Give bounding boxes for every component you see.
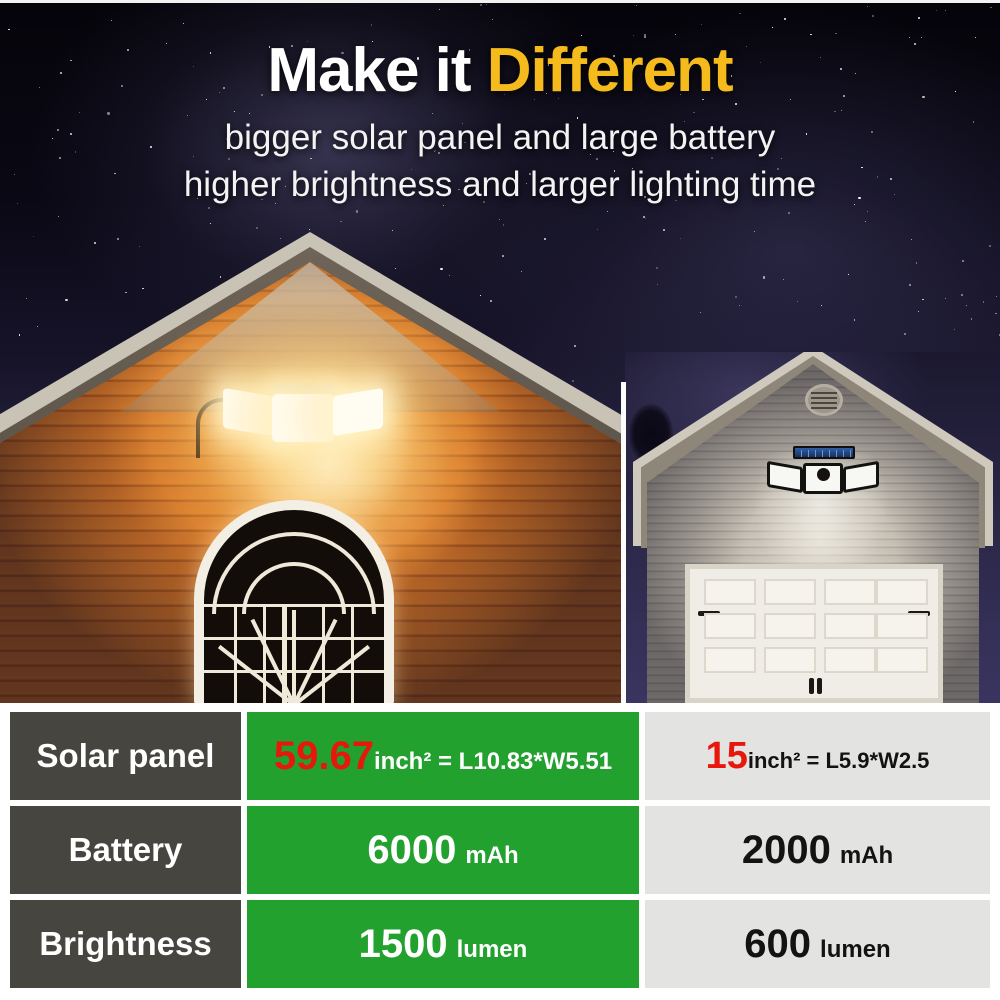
table-row: Brightness 1500 lumen 600 lumen — [10, 900, 990, 988]
solar-flood-light-fixture-right — [771, 446, 875, 494]
window-center-mullion — [282, 604, 287, 703]
photo-divider — [621, 382, 626, 703]
garage-door — [685, 564, 943, 703]
arched-window-left — [194, 500, 394, 703]
motion-sensor-icon — [817, 468, 830, 481]
solar-panel-right — [793, 446, 855, 459]
light-head-center — [272, 394, 334, 442]
theirs-value-battery: 2000 — [742, 830, 831, 870]
flood-light-fixture-left — [225, 378, 383, 448]
light-head-right-wing — [843, 461, 879, 493]
title-plain-part: Make it — [267, 36, 486, 105]
table-row: Battery 6000 mAh 2000 mAh — [10, 806, 990, 894]
garage-handle-icon — [809, 678, 823, 694]
theirs-value-brightness: 600 — [744, 924, 811, 964]
theirs-unit-battery: mAh — [840, 842, 893, 870]
comparison-table: Solar panel 59.67inch² = L10.83*W5.51 15… — [10, 712, 990, 988]
ours-cell-brightness: 1500 lumen — [247, 900, 639, 988]
theirs-cell-solar-panel: 15inch² = L5.9*W2.5 — [645, 712, 990, 800]
ours-value-brightness: 1500 — [359, 924, 448, 964]
subtitle-line-1: bigger solar panel and large battery — [0, 116, 1000, 161]
gable-vent-icon — [805, 384, 843, 416]
ours-value-solar-panel: 59.67 — [274, 736, 374, 776]
page-title: Make it Different — [0, 40, 1000, 102]
title-accent-part: Different — [487, 36, 733, 105]
light-head-left-wing — [767, 461, 803, 493]
table-row: Solar panel 59.67inch² = L10.83*W5.51 15… — [10, 712, 990, 800]
photo-right-dim-garage — [625, 352, 1000, 703]
ours-unit-brightness: lumen — [457, 936, 528, 964]
row-label-battery: Battery — [10, 806, 241, 894]
ours-unit-battery: mAh — [465, 842, 518, 870]
ours-value-battery: 6000 — [367, 830, 456, 870]
row-label-brightness: Brightness — [10, 900, 241, 988]
row-label-solar-panel: Solar panel — [10, 712, 241, 800]
theirs-unit-solar-panel: inch² = L5.9*W2.5 — [748, 748, 930, 774]
light-head-left-wing — [223, 388, 273, 436]
ours-cell-solar-panel: 59.67inch² = L10.83*W5.51 — [247, 712, 639, 800]
light-head-right-wing — [333, 388, 383, 436]
theirs-cell-brightness: 600 lumen — [645, 900, 990, 988]
ours-unit-solar-panel: inch² = L10.83*W5.51 — [374, 748, 612, 776]
headline-block: Make it Different bigger solar panel and… — [0, 40, 1000, 208]
top-edge-strip — [0, 0, 1000, 3]
hero-image-area: Make it Different bigger solar panel and… — [0, 0, 1000, 703]
theirs-unit-brightness: lumen — [820, 936, 891, 964]
theirs-value-solar-panel: 15 — [706, 737, 748, 775]
subtitle-line-2: higher brightness and larger lighting ti… — [0, 163, 1000, 208]
ours-cell-battery: 6000 mAh — [247, 806, 639, 894]
window-pane-grid — [204, 604, 384, 703]
theirs-cell-battery: 2000 mAh — [645, 806, 990, 894]
